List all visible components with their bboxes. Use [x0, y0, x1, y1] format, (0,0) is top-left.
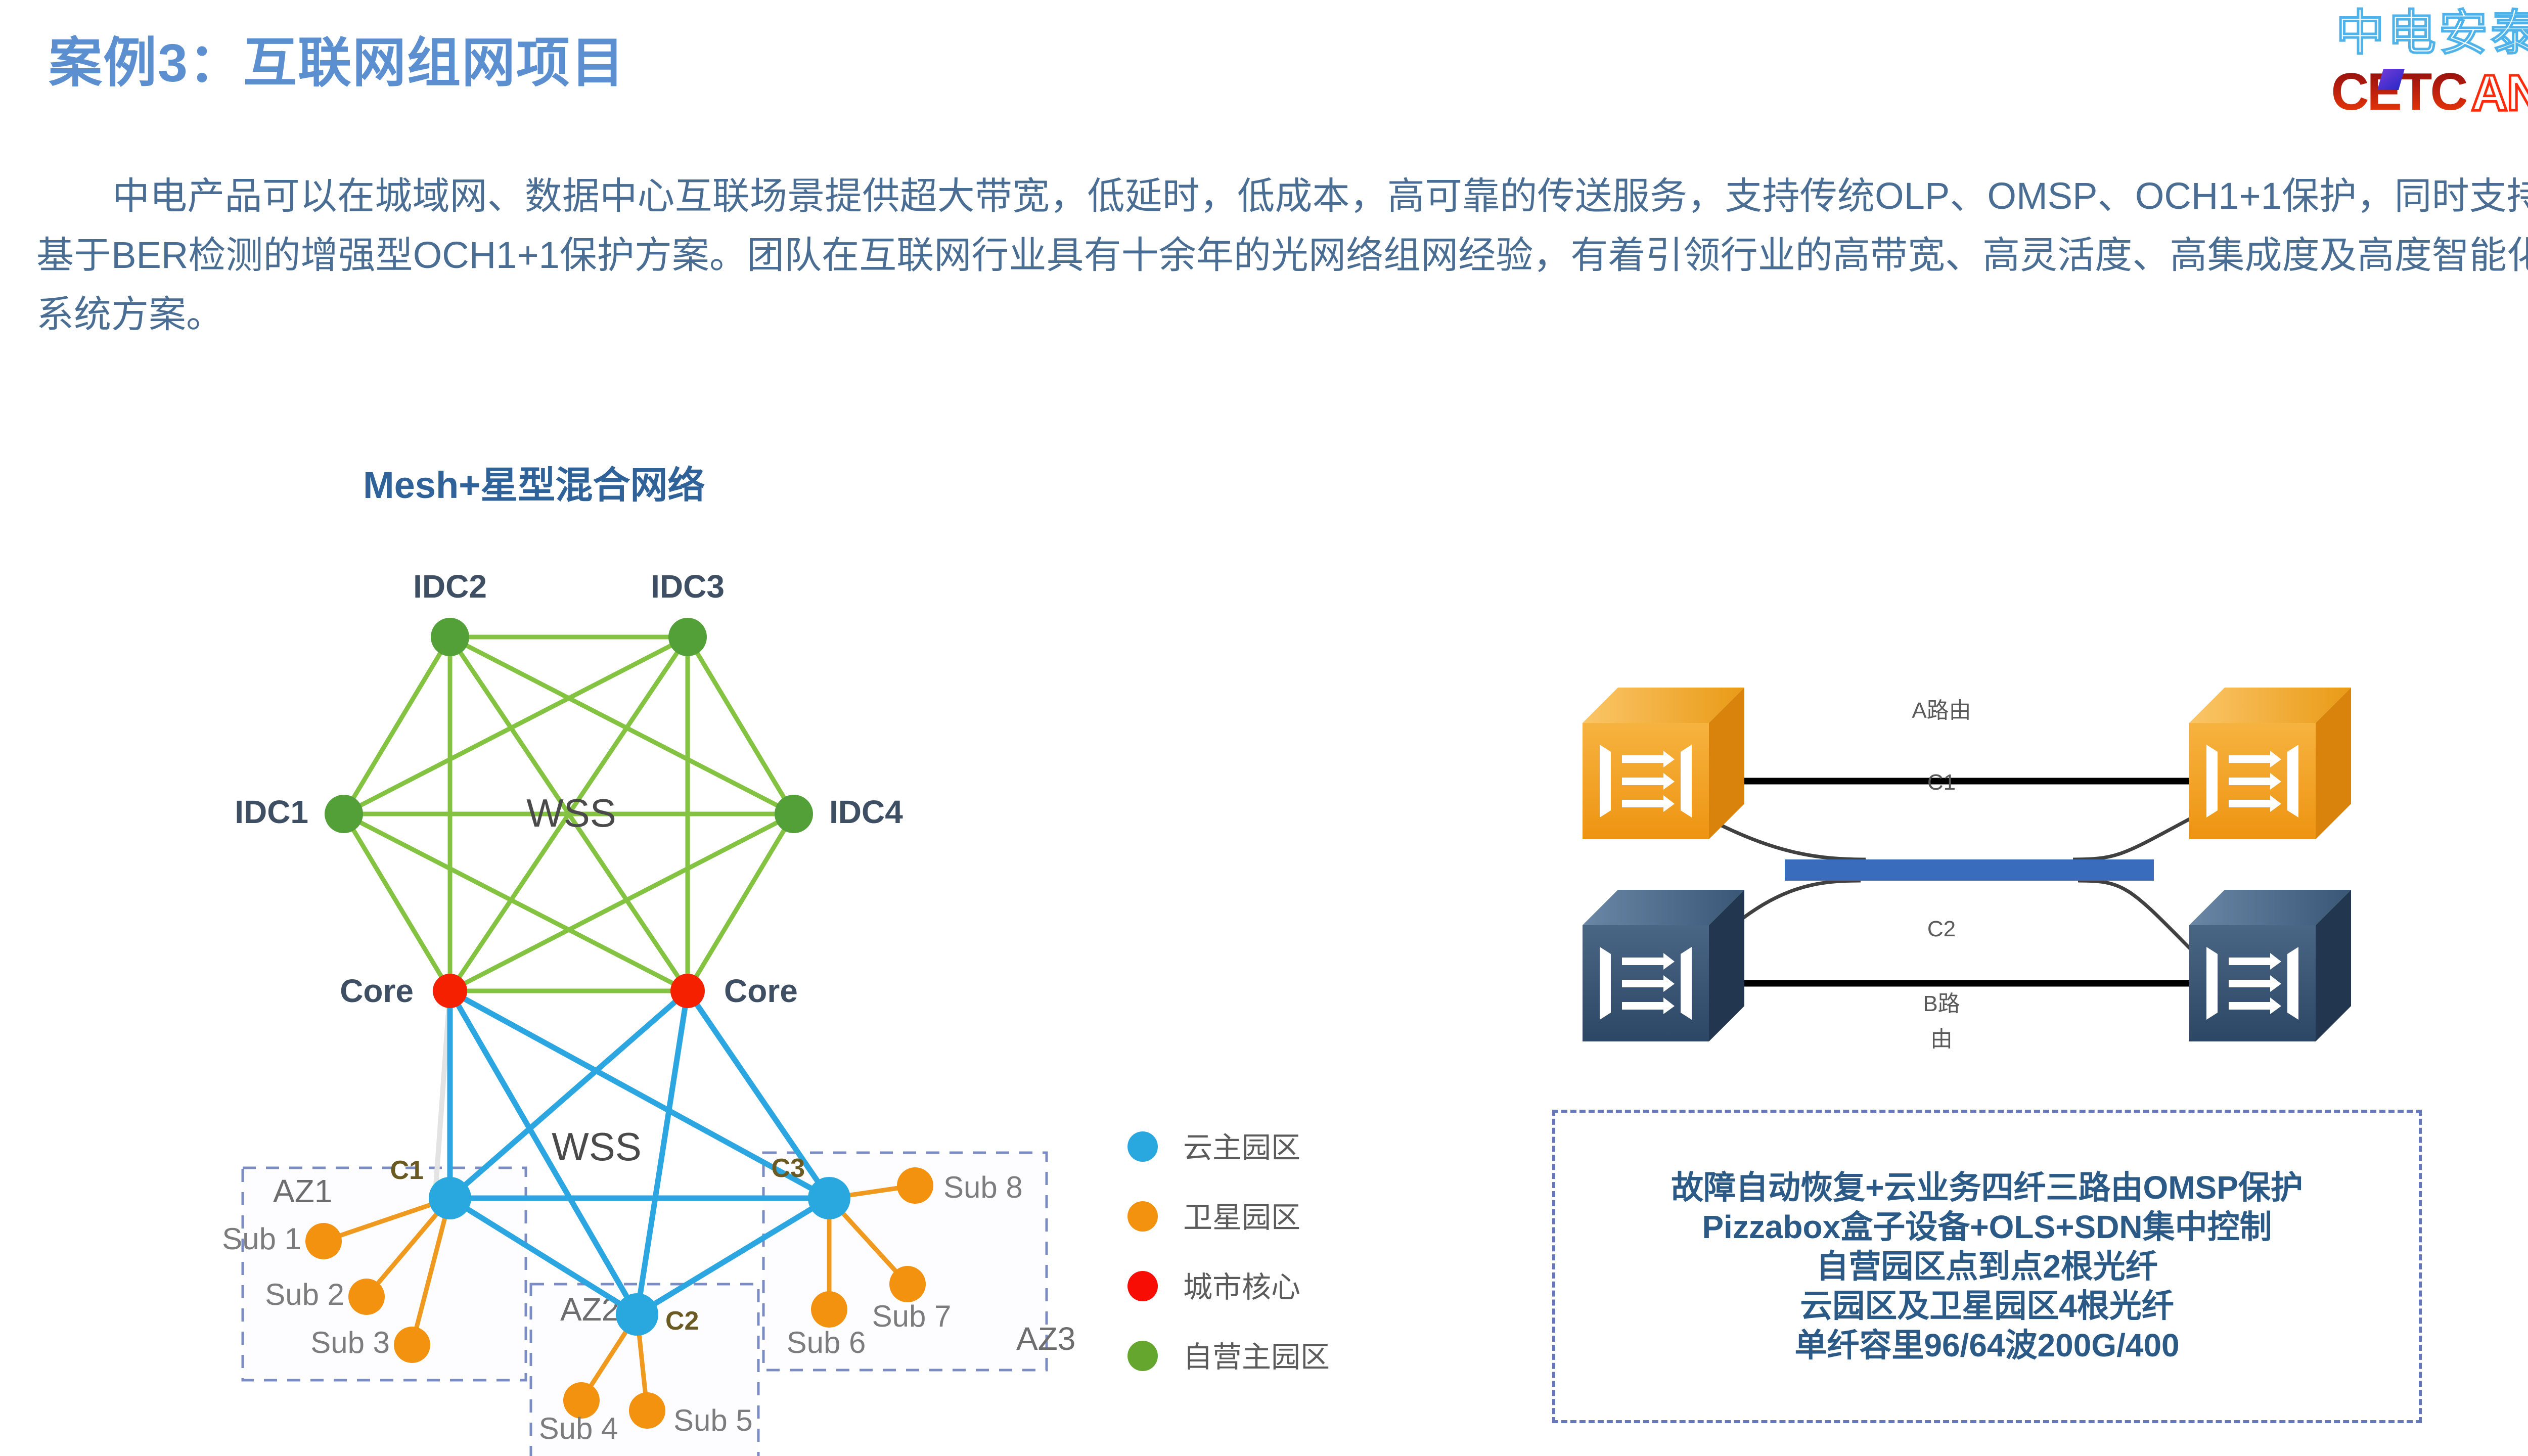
- slide-root: 中电安泰 CETC AN 案例3：互联网组网项目 中电产品可以在城域网、数据中心…: [0, 0, 2528, 1456]
- router-device-blue[interactable]: [1583, 890, 1744, 1041]
- summary-line: 云园区及卫星园区4根光纤: [1800, 1286, 2174, 1326]
- satellite-node-label: Sub 4: [539, 1412, 618, 1445]
- satellite-node[interactable]: [348, 1279, 385, 1315]
- c1-arc-left: [1704, 816, 1866, 859]
- logo-latin-row: CETC AN: [2279, 65, 2528, 117]
- idc-node[interactable]: [431, 618, 469, 656]
- satellite-node-label: Sub 3: [310, 1326, 390, 1359]
- core-node[interactable]: [670, 974, 705, 1008]
- availability-zone-label: AZ1: [273, 1173, 332, 1209]
- availability-zone-label: AZ3: [1016, 1321, 1075, 1357]
- legend-swatch: [1127, 1131, 1158, 1162]
- satellite-node[interactable]: [629, 1392, 665, 1429]
- protection-path-label: 由: [1930, 1027, 1953, 1052]
- core-node-label: Core: [340, 973, 414, 1009]
- page-title: 案例3：互联网组网项目: [49, 19, 625, 97]
- legend-label: 城市核心: [1183, 1271, 1300, 1304]
- router-device-orange[interactable]: [1583, 688, 1744, 839]
- summary-line: 自营园区点到点2根光纤: [1816, 1247, 2158, 1286]
- satellite-node-label: Sub 6: [787, 1326, 866, 1359]
- core-node[interactable]: [433, 974, 467, 1008]
- star-link: [637, 991, 688, 1314]
- network-legend: 云主园区卫星园区城市核心自营主园区: [1127, 1131, 1330, 1374]
- cloud-node-label: C2: [665, 1306, 699, 1336]
- idc-node-label: IDC3: [651, 568, 725, 605]
- idc-node[interactable]: [325, 795, 363, 833]
- c1-arc-right: [2073, 816, 2194, 859]
- logo-chinese-text: 中电安泰: [2279, 9, 2528, 58]
- router-device-blue[interactable]: [2189, 890, 2351, 1041]
- legend-label: 卫星园区: [1183, 1201, 1300, 1234]
- logo-an-text: AN: [2471, 69, 2528, 117]
- star-link: [688, 991, 829, 1198]
- router-device-orange[interactable]: [2189, 688, 2351, 839]
- omsp-coupler-bar: [1785, 859, 2154, 881]
- protection-path-links: [1704, 781, 2194, 983]
- idc-node[interactable]: [668, 618, 707, 656]
- mesh-diagram-heading: Mesh+星型混合网络: [363, 455, 705, 509]
- legend-swatch: [1127, 1341, 1158, 1371]
- legend-swatch: [1127, 1271, 1158, 1301]
- protection-path-label: C1: [1927, 770, 1956, 795]
- summary-line: Pizzabox盒子设备+OLS+SDN集中控制: [1702, 1207, 2272, 1247]
- idc-node-label: IDC2: [413, 568, 487, 605]
- satellite-node-label: Sub 5: [673, 1403, 753, 1437]
- satellite-node-label: Sub 7: [872, 1299, 952, 1333]
- idc-node[interactable]: [775, 795, 813, 833]
- satellite-node-label: Sub 1: [222, 1222, 301, 1256]
- c2-arc-right: [2078, 881, 2194, 953]
- cloud-node[interactable]: [616, 1293, 658, 1336]
- satellite-node-label: Sub 8: [943, 1170, 1023, 1204]
- legend-swatch: [1127, 1201, 1158, 1232]
- brand-logo: 中电安泰 CETC AN: [2279, 9, 2528, 125]
- core-node-label: Core: [724, 973, 798, 1009]
- protection-path-label: A路由: [1912, 698, 1971, 723]
- satellite-node[interactable]: [305, 1223, 342, 1259]
- cloud-node-label: C1: [390, 1156, 424, 1185]
- wss-label-star: WSS: [552, 1124, 642, 1169]
- cloud-node-label: C3: [772, 1154, 805, 1183]
- wss-label-mesh: WSS: [526, 791, 616, 835]
- satellite-node[interactable]: [897, 1167, 933, 1204]
- satellite-node-label: Sub 2: [265, 1278, 344, 1311]
- cloud-node[interactable]: [429, 1177, 471, 1219]
- mesh-star-network-diagram: AZ1AZ2AZ3 Sub 1Sub 2Sub 3Sub 4Sub 5Sub 6…: [126, 541, 1340, 1456]
- protection-path-label: B路: [1923, 991, 1960, 1016]
- legend-label: 自营主园区: [1183, 1341, 1330, 1374]
- satellite-node[interactable]: [394, 1327, 430, 1363]
- feature-summary-box: 故障自动恢复+云业务四纤三路由OMSP保护 Pizzabox盒子设备+OLS+S…: [1552, 1110, 2422, 1423]
- summary-line: 故障自动恢复+云业务四纤三路由OMSP保护: [1671, 1168, 2303, 1207]
- omsp-protection-diagram: A路由C1C2B路由: [1537, 657, 2407, 1077]
- summary-line: 单纤容里96/64波200G/400: [1794, 1326, 2179, 1365]
- satellite-node[interactable]: [811, 1291, 847, 1328]
- protection-path-label: C2: [1927, 917, 1956, 941]
- cloud-node[interactable]: [808, 1177, 850, 1219]
- idc-node-label: IDC1: [235, 794, 308, 830]
- intro-paragraph: 中电产品可以在城域网、数据中心互联场景提供超大带宽，低延时，低成本，高可靠的传送…: [36, 167, 2528, 344]
- legend-label: 云主园区: [1183, 1131, 1300, 1164]
- satellite-node[interactable]: [889, 1266, 926, 1302]
- idc-node-label: IDC4: [829, 794, 903, 830]
